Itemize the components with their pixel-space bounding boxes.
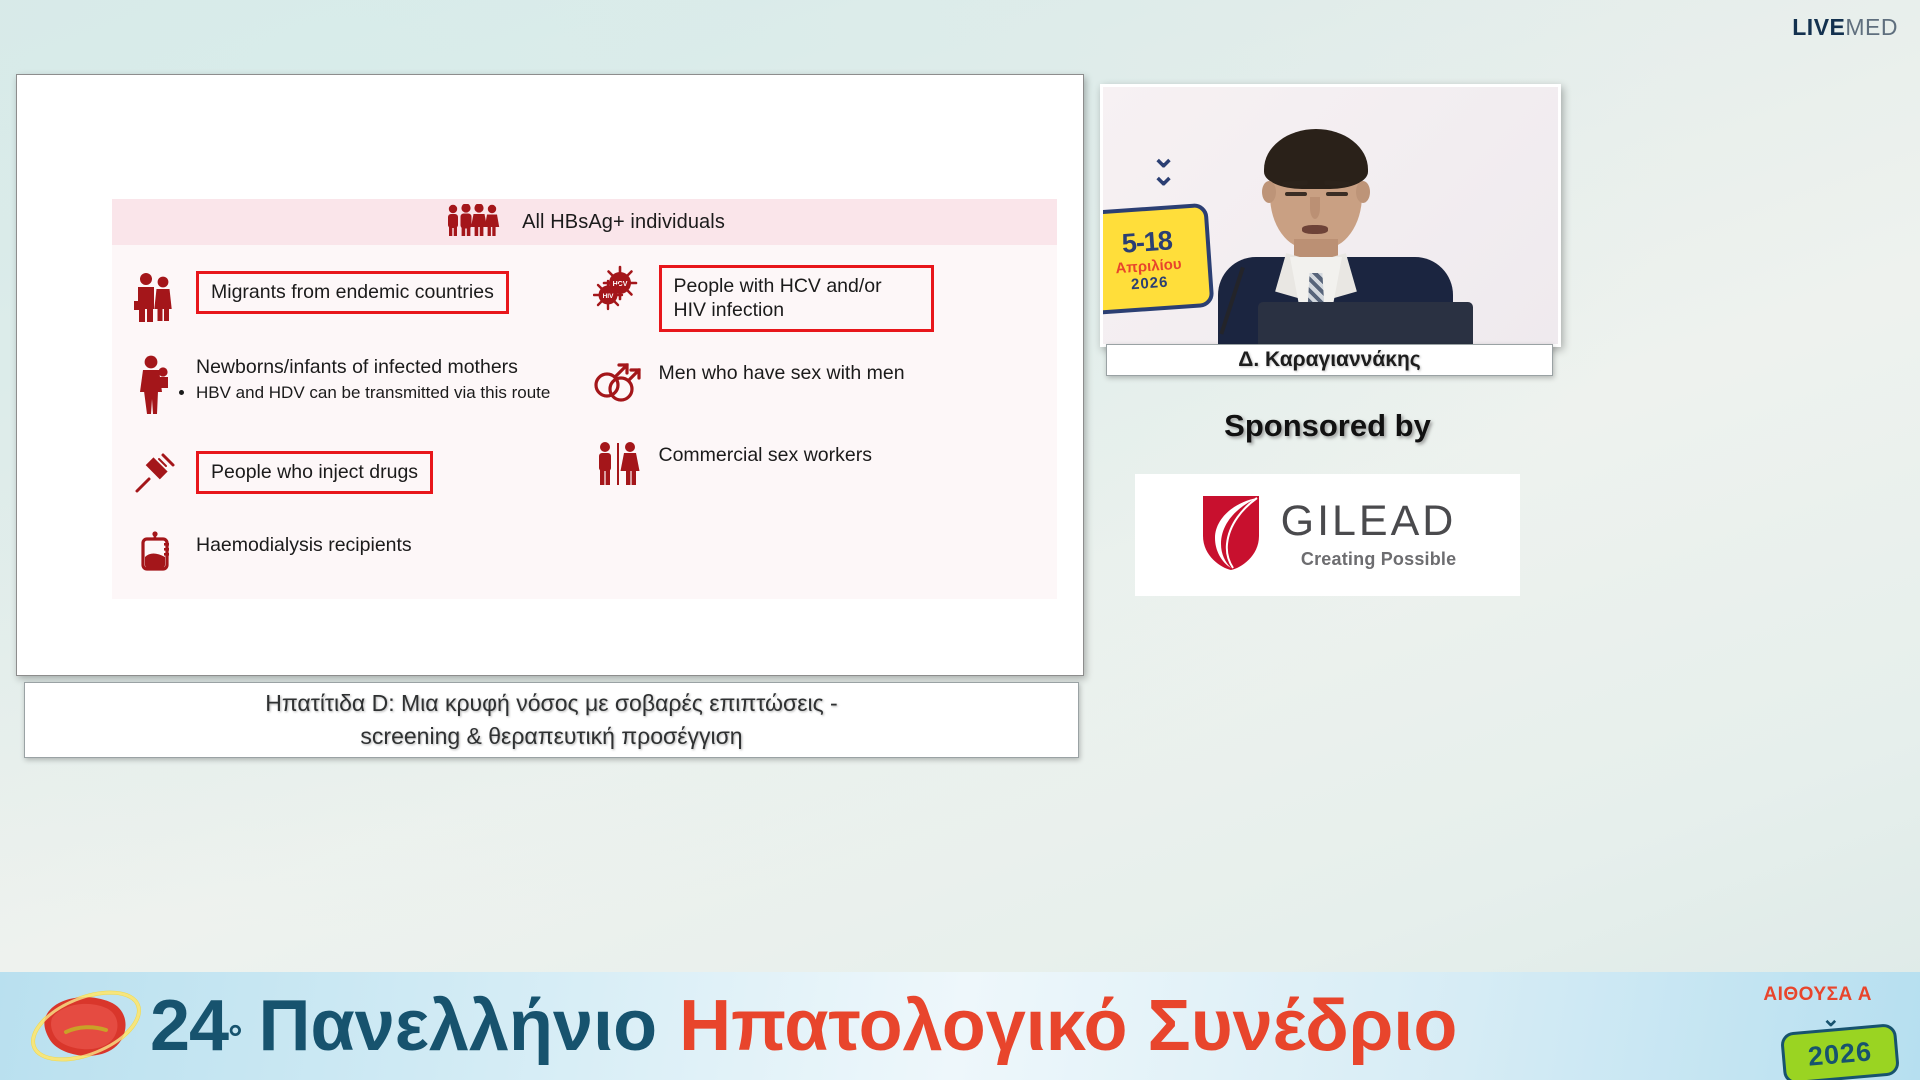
- list-item-haemodialysis-label: Haemodialysis recipients: [196, 531, 412, 557]
- speaker-eye-left: [1285, 192, 1307, 196]
- speaker-name-bar: Δ. Καραγιαννάκης: [1106, 344, 1553, 376]
- speaker-mouth: [1302, 225, 1328, 234]
- banner-word-hepatology: Ηπατολογικό Συνέδριο: [679, 985, 1457, 1067]
- backdrop-year: 2026: [1130, 273, 1168, 293]
- list-item-pwid[interactable]: People who inject drugs: [128, 451, 433, 495]
- banner-edition-number: 24: [150, 985, 228, 1067]
- gilead-name: GILEAD: [1281, 500, 1457, 543]
- list-item-hcv-hiv-label: People with HCV and/or HIV infection: [659, 265, 934, 332]
- list-item-migrants-label: Migrants from endemic countries: [196, 271, 509, 314]
- livemed-logo: LIVEMED: [1792, 14, 1898, 41]
- list-item-haemodialysis[interactable]: Haemodialysis recipients: [128, 531, 412, 571]
- session-title-bar: Ηπατίτιδα D: Μια κρυφή νόσος με σοβαρές …: [24, 682, 1079, 758]
- speaker-name: Δ. Καραγιαννάκης: [1238, 348, 1420, 372]
- man-woman-icon: [591, 441, 645, 487]
- gilead-shield-icon: [1199, 492, 1263, 579]
- speaker-hair: [1264, 129, 1368, 189]
- svg-text:HIV: HIV: [602, 293, 614, 300]
- family-icon: [128, 271, 182, 323]
- list-item-msm-label: Men who have sex with men: [659, 359, 905, 385]
- speaker-video[interactable]: ⌄⌄ 5-18 Απριλίου 2026: [1100, 84, 1561, 347]
- slide-content-panel: All HBsAg+ individuals: [112, 199, 1057, 599]
- banner-year: 2026: [1807, 1036, 1874, 1072]
- speaker-eye-right: [1326, 192, 1348, 196]
- banner-room-label: ΑΙΘΟΥΣΑ Α: [1763, 984, 1872, 1006]
- virus-hcv-hiv-icon: HCV HIV: [591, 265, 645, 315]
- sponsored-by-label: Sponsored by: [1100, 408, 1555, 444]
- column-right: HCV HIV: [585, 245, 1058, 599]
- speaker-ear-right: [1356, 181, 1370, 203]
- session-title: Ηπατίτιδα D: Μια κρυφή νόσος με σοβαρές …: [265, 687, 837, 754]
- group-of-people-icon: [444, 204, 502, 241]
- banner-title: 24° Πανελλήνιο Ηπατολογικό Συνέδριο: [150, 985, 1457, 1067]
- podium: [1258, 302, 1473, 344]
- list-item-migrants[interactable]: Migrants from endemic countries: [128, 271, 509, 323]
- speaker-ear-left: [1262, 181, 1276, 203]
- session-title-line2: screening & θεραπευτική προσέγγιση: [265, 720, 837, 753]
- slide-viewer[interactable]: All HBsAg+ individuals: [16, 74, 1084, 676]
- backdrop-date-badge: 5-18 Απριλίου 2026: [1100, 203, 1214, 316]
- list-item-pwid-label: People who inject drugs: [196, 451, 433, 494]
- list-item-hcv-hiv[interactable]: HCV HIV: [591, 265, 934, 332]
- session-title-line1: Ηπατίτιδα D: Μια κρυφή νόσος με σοβαρές …: [265, 687, 837, 720]
- backdrop-chevron-icon: ⌄⌄: [1151, 149, 1176, 185]
- list-item-newborns[interactable]: Newborns/infants of infected mothers HBV…: [128, 353, 550, 415]
- list-item-csw[interactable]: Commercial sex workers: [591, 441, 872, 487]
- sponsor-logo[interactable]: GILEAD Creating Possible: [1135, 474, 1520, 596]
- list-item-newborns-bullet: HBV and HDV can be transmitted via this …: [196, 382, 550, 403]
- list-item-newborns-sub: HBV and HDV can be transmitted via this …: [196, 382, 550, 403]
- list-item-newborns-label: Newborns/infants of infected mothers: [196, 356, 518, 378]
- gilead-wordmark: GILEAD Creating Possible: [1281, 500, 1457, 570]
- mother-infant-icon: [128, 353, 182, 415]
- syringe-icon: [128, 451, 182, 495]
- list-item-csw-label: Commercial sex workers: [659, 441, 872, 467]
- panel-columns: Migrants from endemic countries: [112, 245, 1057, 599]
- column-left: Migrants from endemic countries: [112, 245, 585, 599]
- livemed-logo-med: MED: [1845, 14, 1898, 40]
- panel-header: All HBsAg+ individuals: [112, 199, 1057, 245]
- double-male-symbol-icon: [591, 359, 645, 403]
- banner-word-panellinio: Πανελλήνιο: [259, 985, 658, 1067]
- list-item-msm[interactable]: Men who have sex with men: [591, 359, 905, 403]
- conference-banner: 24° Πανελλήνιο Ηπατολογικό Συνέδριο ΑΙΘΟ…: [0, 972, 1920, 1080]
- liver-logo-icon: [26, 980, 146, 1072]
- list-item-newborns-text: Newborns/infants of infected mothers HBV…: [196, 353, 550, 403]
- banner-degree-symbol: °: [228, 1017, 242, 1059]
- speaker-nose: [1310, 197, 1320, 219]
- gilead-tagline: Creating Possible: [1301, 549, 1456, 570]
- backdrop-dates: 5-18: [1121, 225, 1173, 259]
- panel-header-title: All HBsAg+ individuals: [522, 211, 725, 234]
- livemed-logo-live: LIVE: [1792, 14, 1845, 40]
- banner-year-badge: 2026: [1780, 1023, 1900, 1080]
- blood-bag-icon: [128, 531, 182, 571]
